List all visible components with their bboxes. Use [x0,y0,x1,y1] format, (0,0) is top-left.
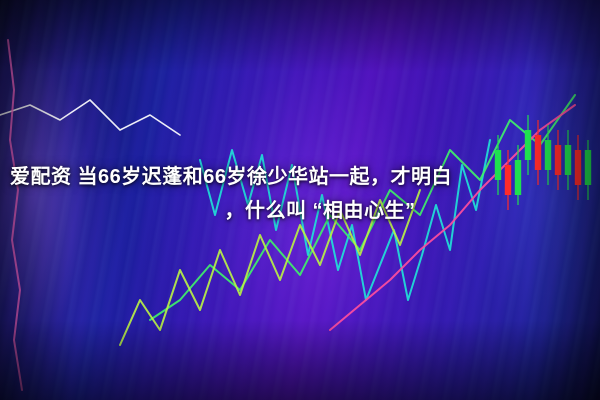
caption-text: 爱配资 当66岁迟蓬和66岁徐少华站一起，才明白 ，什么叫 “相由心生” [0,160,600,228]
caption-line-2: ，什么叫 “相由心生” [10,194,590,228]
watermark-label: 爱配资 [10,166,72,188]
caption-line-1: 当66岁迟蓬和66岁徐少华站一起，才明白 [72,166,453,188]
screenshot-canvas: 爱配资 当66岁迟蓬和66岁徐少华站一起，才明白 ，什么叫 “相由心生” [0,0,600,400]
